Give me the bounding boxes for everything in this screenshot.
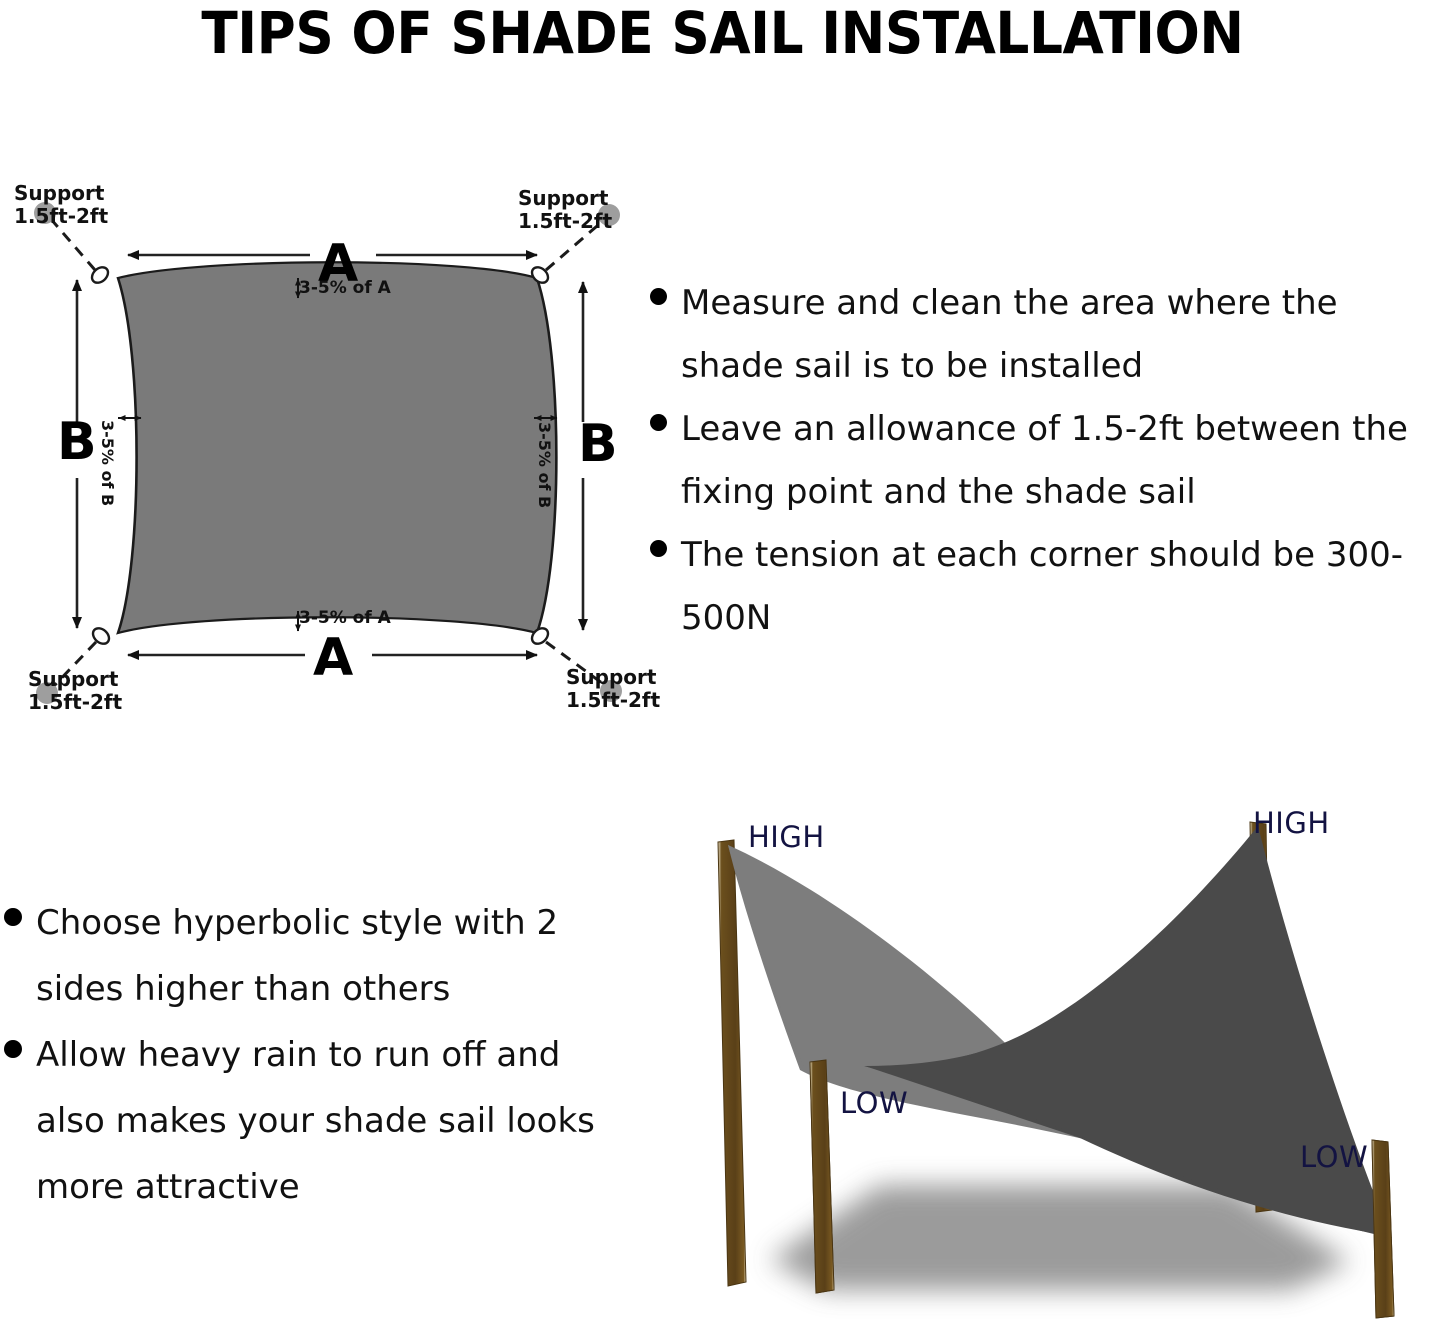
curvature-label-b-right: 3-5% of B xyxy=(535,422,554,508)
support-label-bottom-left: Support 1.5ft-2ft xyxy=(28,668,122,714)
curvature-label-a-bottom: 3-5% of A xyxy=(299,608,391,628)
support-label-line2: 1.5ft-2ft xyxy=(566,689,660,712)
list-item: Allow heavy rain to run off and also mak… xyxy=(4,1022,624,1220)
support-label-line1: Support xyxy=(14,182,108,205)
support-label-line2: 1.5ft-2ft xyxy=(28,691,122,714)
post-high-left xyxy=(718,840,746,1286)
post-low-right-front xyxy=(1372,1140,1394,1318)
list-item: The tension at each corner should be 300… xyxy=(650,524,1445,650)
tip-text: Allow heavy rain to run off and also mak… xyxy=(36,1022,624,1220)
tip-text: The tension at each corner should be 300… xyxy=(681,524,1445,650)
tip-text: Measure and clean the area where the sha… xyxy=(681,272,1445,398)
sail-shape xyxy=(118,262,556,633)
dimension-label-a-bottom: A xyxy=(313,632,353,684)
bullet-dot-icon xyxy=(650,540,667,557)
tip-text: Leave an allowance of 1.5-2ft between th… xyxy=(681,398,1445,524)
list-item: Measure and clean the area where the sha… xyxy=(650,272,1445,398)
curvature-label-b-left: 3-5% of B xyxy=(98,420,117,506)
bullet-dot-icon xyxy=(4,1040,22,1058)
support-label-top-right: Support 1.5ft-2ft xyxy=(518,187,612,233)
bullet-dot-icon xyxy=(650,288,667,305)
support-label-line2: 1.5ft-2ft xyxy=(14,205,108,228)
support-label-line1: Support xyxy=(566,666,660,689)
support-label-line2: 1.5ft-2ft xyxy=(518,210,612,233)
bullet-dot-icon xyxy=(4,908,22,926)
sail-label-low-left: LOW xyxy=(840,1086,908,1120)
curvature-label-a-top: 3-5% of A xyxy=(299,278,391,298)
dimension-label-b-left: B xyxy=(57,416,97,468)
support-label-line1: Support xyxy=(518,187,612,210)
support-label-line1: Support xyxy=(28,668,122,691)
sail-label-high-left: HIGH xyxy=(748,820,825,854)
sail-label-low-right: LOW xyxy=(1300,1140,1368,1174)
tip-text: Choose hyperbolic style with 2 sides hig… xyxy=(36,890,624,1022)
tips-list-right: Measure and clean the area where the sha… xyxy=(650,272,1445,650)
tips-list-bottom: Choose hyperbolic style with 2 sides hig… xyxy=(4,890,624,1220)
dimension-label-b-right: B xyxy=(578,418,618,470)
support-label-top-left: Support 1.5ft-2ft xyxy=(14,182,108,228)
support-label-bottom-right: Support 1.5ft-2ft xyxy=(566,666,660,712)
list-item: Choose hyperbolic style with 2 sides hig… xyxy=(4,890,624,1022)
sail-label-high-right: HIGH xyxy=(1253,806,1330,840)
list-item: Leave an allowance of 1.5-2ft between th… xyxy=(650,398,1445,524)
bullet-dot-icon xyxy=(650,414,667,431)
page-title: TIPS OF SHADE SAIL INSTALLATION xyxy=(58,0,1387,66)
